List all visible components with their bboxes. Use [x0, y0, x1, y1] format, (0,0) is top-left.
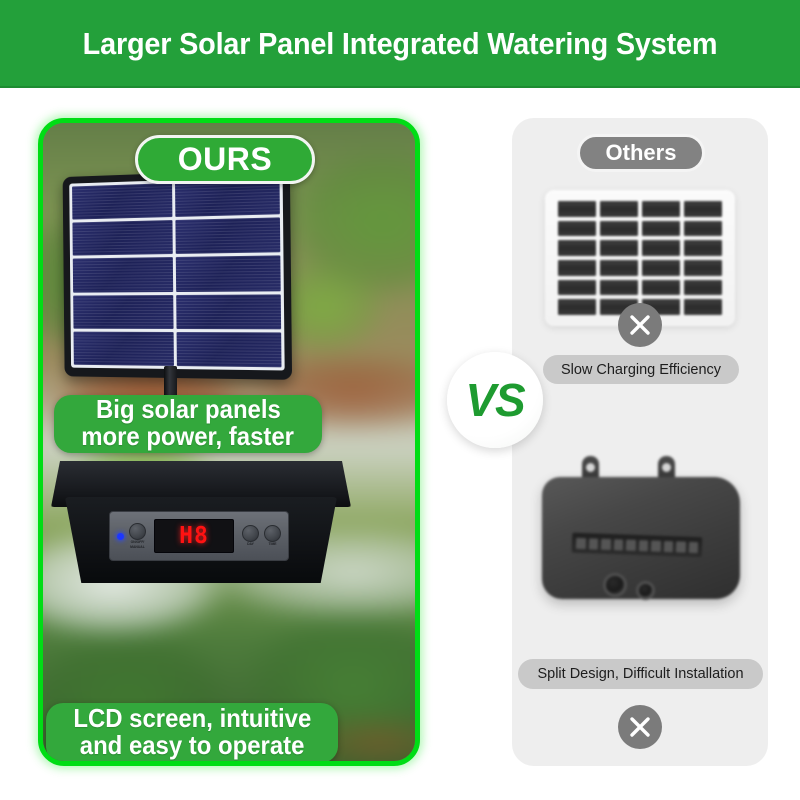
- solar-strip: [642, 240, 680, 256]
- day-button[interactable]: DAY: [242, 525, 259, 547]
- day-button-cap[interactable]: [242, 525, 259, 542]
- solar-strip: [558, 221, 596, 237]
- day-button-label: DAY: [247, 543, 254, 547]
- x-mark-icon: [618, 705, 662, 749]
- solar-strip: [558, 201, 596, 217]
- others-indicator-strip: [572, 533, 703, 558]
- solar-strip: [600, 240, 638, 256]
- ours-solar-panel-cell-grid: [69, 176, 284, 370]
- ours-solar-panel-frame: [63, 169, 292, 380]
- ours-feature-caption-lcd: LCD screen, intuitive and easy to operat…: [46, 703, 338, 763]
- others-solar-panel-strip-grid: [558, 201, 722, 315]
- solar-strip: [684, 221, 722, 237]
- solar-strip: [642, 221, 680, 237]
- page-title: Larger Solar Panel Integrated Watering S…: [28, 0, 772, 88]
- solar-strip: [684, 260, 722, 276]
- others-drawback-caption-installation: Split Design, Difficult Installation: [518, 659, 763, 689]
- solar-strip: [600, 260, 638, 276]
- caption-line: LCD screen, intuitive: [73, 705, 311, 732]
- x-mark-icon: [618, 303, 662, 347]
- solar-cell: [73, 257, 173, 292]
- solar-strip: [600, 280, 638, 296]
- indicator-segment: [638, 540, 648, 551]
- solar-strip: [684, 240, 722, 256]
- vs-badge: VS: [447, 352, 543, 448]
- solar-cell: [175, 218, 280, 255]
- indicator-segment: [688, 541, 698, 552]
- others-badge: Others: [577, 134, 705, 172]
- solar-cell: [175, 179, 280, 217]
- solar-strip: [558, 240, 596, 256]
- indicator-segment: [676, 541, 686, 552]
- power-led-indicator: [117, 533, 124, 540]
- on-off-manual-button-label-line2: MANUAL: [130, 546, 145, 550]
- ours-badge-label: OURS: [178, 141, 272, 178]
- others-drawback-caption-charging: Slow Charging Efficiency: [543, 355, 739, 384]
- lcd-display: H8: [154, 519, 234, 553]
- time-button-label: TIME: [268, 543, 276, 547]
- ours-comparison-panel: ON/OFF/ MANUAL H8 DAY TIME: [38, 118, 420, 766]
- solar-strip: [600, 221, 638, 237]
- caption-line: Big solar panels: [96, 396, 281, 423]
- others-badge-label: Others: [606, 140, 677, 166]
- others-controller-device: [536, 448, 746, 648]
- solar-cell: [73, 295, 173, 329]
- solar-cell: [175, 256, 280, 292]
- solar-cell: [72, 183, 172, 220]
- solar-strip: [558, 280, 596, 296]
- caption-text: Slow Charging Efficiency: [561, 362, 721, 378]
- indicator-segment: [613, 539, 623, 550]
- lcd-display-value: H8: [179, 523, 209, 549]
- ours-controller-device: ON/OFF/ MANUAL H8 DAY TIME: [51, 461, 351, 603]
- caption-line: more power, faster: [82, 423, 295, 450]
- time-button[interactable]: TIME: [264, 525, 281, 547]
- time-button-cap[interactable]: [264, 525, 281, 542]
- solar-strip: [684, 280, 722, 296]
- solar-cell: [74, 331, 174, 366]
- solar-strip: [684, 201, 722, 217]
- solar-strip: [642, 260, 680, 276]
- indicator-segment: [651, 540, 661, 551]
- ours-badge: OURS: [135, 135, 315, 184]
- solar-strip: [558, 299, 596, 315]
- ours-feature-caption-solar: Big solar panels more power, faster: [54, 395, 322, 453]
- indicator-segment: [626, 539, 636, 550]
- caption-text: Split Design, Difficult Installation: [537, 666, 743, 682]
- on-off-manual-button-label-line1: ON/OFF/: [131, 541, 145, 545]
- solar-cell: [176, 294, 281, 329]
- indicator-segment: [576, 537, 586, 548]
- solar-strip: [642, 201, 680, 217]
- on-off-manual-button[interactable]: ON/OFF/ MANUAL: [129, 523, 146, 549]
- solar-cell: [72, 220, 172, 256]
- solar-cell: [176, 332, 281, 368]
- ours-controller-faceplate: ON/OFF/ MANUAL H8 DAY TIME: [109, 511, 289, 561]
- others-controller-body: [542, 477, 740, 599]
- solar-strip: [642, 280, 680, 296]
- others-comparison-panel: Others: [512, 118, 768, 766]
- indicator-segment: [663, 540, 673, 551]
- indicator-segment: [601, 538, 611, 549]
- caption-line: and easy to operate: [80, 732, 305, 759]
- hose-port: [603, 573, 627, 597]
- on-off-manual-button-cap[interactable]: [129, 523, 146, 540]
- header-banner: Larger Solar Panel Integrated Watering S…: [0, 0, 800, 88]
- vs-badge-label: VS: [465, 373, 524, 427]
- solar-strip: [684, 299, 722, 315]
- solar-strip: [600, 201, 638, 217]
- indicator-segment: [588, 538, 598, 549]
- solar-strip: [558, 260, 596, 276]
- hose-port: [636, 581, 655, 600]
